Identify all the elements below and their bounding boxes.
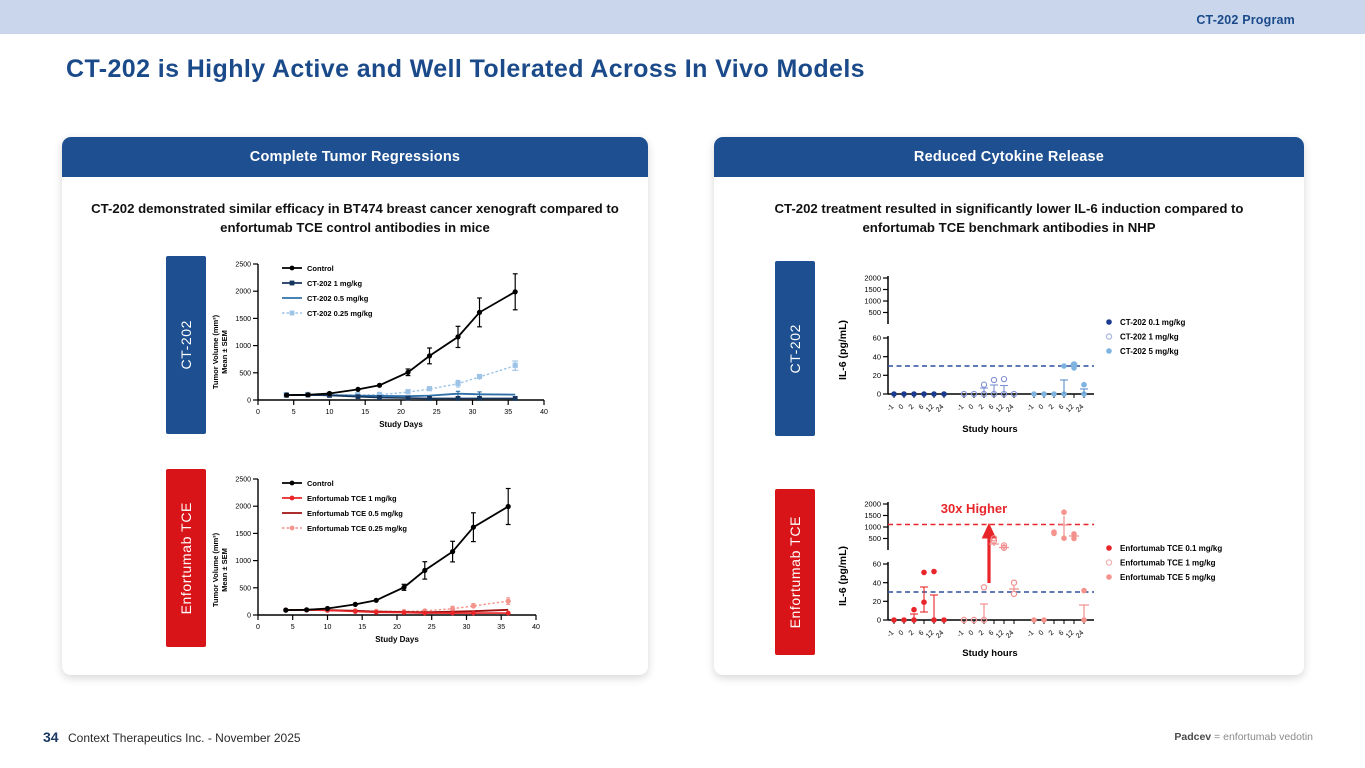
svg-text:2000: 2000: [864, 274, 881, 283]
svg-text:15: 15: [361, 409, 369, 416]
svg-text:6: 6: [918, 403, 926, 411]
svg-text:1500: 1500: [864, 285, 881, 294]
svg-text:0: 0: [877, 390, 881, 399]
svg-text:500: 500: [239, 370, 251, 377]
panel-left-subtitle: CT-202 demonstrated similar efficacy in …: [88, 199, 622, 237]
svg-text:2: 2: [1048, 403, 1056, 411]
svg-text:0: 0: [898, 629, 906, 637]
svg-text:6: 6: [1058, 403, 1066, 411]
vertical-tab-label: Enfortumab TCE: [178, 502, 194, 614]
svg-text:10: 10: [324, 624, 332, 631]
svg-text:6: 6: [988, 629, 996, 637]
chart-tumor-enfortumab: Tumor Volume (mm³) Mean ± SEM 0 500 1000…: [206, 467, 551, 652]
program-label: CT-202 Program: [1196, 13, 1295, 27]
y-axis-label-group: Tumor Volume (mm³) Mean ± SEM: [211, 532, 229, 607]
svg-text:0: 0: [256, 624, 260, 631]
vertical-tab-label: Enfortumab TCE: [787, 516, 803, 628]
svg-text:24: 24: [1075, 629, 1086, 640]
svg-text:40: 40: [873, 578, 881, 587]
footer-note-bold: Padcev: [1174, 731, 1211, 743]
svg-text:2: 2: [908, 629, 916, 637]
svg-text:10: 10: [326, 409, 334, 416]
svg-text:CT-202 0.5 mg/kg: CT-202 0.5 mg/kg: [307, 294, 369, 303]
svg-text:Enfortumab TCE 0.1 mg/kg: Enfortumab TCE 0.1 mg/kg: [1120, 544, 1222, 553]
svg-text:Study hours: Study hours: [962, 424, 1017, 435]
svg-text:-1: -1: [1026, 629, 1035, 638]
series-control: [283, 489, 511, 613]
vertical-tab-ct202-left: CT-202: [166, 256, 206, 434]
svg-text:25: 25: [433, 409, 441, 416]
footer-company: Context Therapeutics Inc. - November 202…: [68, 731, 301, 745]
svg-text:Tumor Volume (mm³): Tumor Volume (mm³): [211, 532, 220, 607]
svg-text:6: 6: [1058, 629, 1066, 637]
svg-text:24: 24: [935, 403, 946, 414]
svg-text:24: 24: [1005, 629, 1016, 640]
svg-text:20: 20: [397, 409, 405, 416]
svg-text:1000: 1000: [864, 297, 881, 306]
svg-text:0: 0: [968, 403, 976, 411]
chart-legend: Control Enfortumab TCE 1 mg/kg Enfortuma…: [282, 479, 407, 533]
svg-text:15: 15: [358, 624, 366, 631]
svg-text:CT-202 0.25 mg/kg: CT-202 0.25 mg/kg: [307, 309, 373, 318]
svg-text:IL-6 (pg/mL): IL-6 (pg/mL): [837, 546, 849, 606]
svg-text:6: 6: [988, 403, 996, 411]
svg-text:35: 35: [504, 409, 512, 416]
svg-text:1000: 1000: [235, 343, 251, 350]
annotation-arrow: [983, 524, 996, 583]
svg-text:2500: 2500: [235, 477, 251, 484]
vertical-tab-label: CT-202: [178, 320, 194, 370]
svg-text:40: 40: [540, 409, 548, 416]
chart-tumor-ct202: Tumor Volume (mm³) Mean ± SEM 0 500 1000…: [206, 252, 551, 437]
svg-text:Study Days: Study Days: [379, 420, 423, 429]
svg-text:Control: Control: [307, 264, 334, 273]
svg-text:Enfortumab TCE 1 mg/kg: Enfortumab TCE 1 mg/kg: [1120, 559, 1216, 568]
svg-text:Enfortumab TCE 0.5 mg/kg: Enfortumab TCE 0.5 mg/kg: [307, 509, 403, 518]
svg-text:20: 20: [393, 624, 401, 631]
svg-text:0: 0: [247, 398, 251, 405]
chart-il6-ct202-svg: IL-6 (pg/mL) 2000 1500 1000 500 60 40 20…: [832, 262, 1292, 442]
page-number: 34: [43, 729, 59, 745]
svg-text:40: 40: [873, 352, 881, 361]
svg-text:24: 24: [935, 629, 946, 640]
svg-text:Study hours: Study hours: [962, 648, 1017, 659]
svg-text:2000: 2000: [235, 504, 251, 511]
svg-text:24: 24: [1005, 403, 1016, 414]
svg-text:500: 500: [868, 534, 881, 543]
svg-text:60: 60: [873, 560, 881, 569]
svg-text:1500: 1500: [235, 316, 251, 323]
svg-text:0: 0: [968, 629, 976, 637]
svg-text:CT-202 5 mg/kg: CT-202 5 mg/kg: [1120, 347, 1179, 356]
panel-right-heading: Reduced Cytokine Release: [714, 137, 1304, 177]
chart-legend: CT-202 0.1 mg/kg CT-202 1 mg/kg CT-202 5…: [1106, 318, 1185, 356]
vertical-tab-enfortumab-left: Enfortumab TCE: [166, 469, 206, 647]
footer-note: Padcev = enfortumab vedotin: [1174, 731, 1313, 743]
svg-text:-1: -1: [956, 403, 965, 412]
svg-text:60: 60: [873, 334, 881, 343]
svg-text:Control: Control: [307, 479, 334, 488]
svg-text:Mean ± SEM: Mean ± SEM: [220, 330, 229, 374]
svg-text:2: 2: [978, 629, 986, 637]
vertical-tab-ct202-right: CT-202: [775, 261, 815, 436]
svg-text:0: 0: [1038, 403, 1046, 411]
svg-text:35: 35: [497, 624, 505, 631]
chart-tumor-enfortumab-svg: Tumor Volume (mm³) Mean ± SEM 0 500 1000…: [206, 467, 551, 652]
svg-text:0: 0: [1038, 629, 1046, 637]
chart-tumor-ct202-svg: Tumor Volume (mm³) Mean ± SEM 0 500 1000…: [206, 252, 551, 437]
svg-text:2: 2: [908, 403, 916, 411]
svg-text:-1: -1: [886, 403, 895, 412]
svg-text:CT-202 1 mg/kg: CT-202 1 mg/kg: [307, 279, 362, 288]
svg-text:2000: 2000: [864, 500, 881, 509]
svg-text:1500: 1500: [864, 511, 881, 520]
svg-text:-1: -1: [1026, 403, 1035, 412]
svg-text:0: 0: [877, 616, 881, 625]
series-ct202-025: [284, 361, 519, 397]
svg-text:Enfortumab TCE 5 mg/kg: Enfortumab TCE 5 mg/kg: [1120, 573, 1216, 582]
chart-legend: Control CT-202 1 mg/kg CT-202 0.5 mg/kg …: [282, 264, 373, 318]
series-control: [284, 274, 518, 398]
svg-text:IL-6 (pg/mL): IL-6 (pg/mL): [837, 320, 849, 380]
panel-left-heading: Complete Tumor Regressions: [62, 137, 648, 177]
svg-text:1500: 1500: [235, 531, 251, 538]
svg-text:500: 500: [239, 585, 251, 592]
svg-text:20: 20: [873, 597, 881, 606]
chart-legend: Enfortumab TCE 0.1 mg/kg Enfortumab TCE …: [1106, 544, 1222, 582]
vertical-tab-enfortumab-right: Enfortumab TCE: [775, 489, 815, 655]
group-enf-01: [891, 569, 947, 623]
svg-text:500: 500: [868, 308, 881, 317]
chart-il6-enfortumab: IL-6 (pg/mL) 2000 1500 1000 500 60 40 20…: [832, 488, 1292, 663]
svg-text:CT-202 1 mg/kg: CT-202 1 mg/kg: [1120, 333, 1179, 342]
svg-text:2: 2: [978, 403, 986, 411]
svg-text:-1: -1: [886, 629, 895, 638]
svg-text:2000: 2000: [235, 289, 251, 296]
y-axis-label-group: Tumor Volume (mm³) Mean ± SEM: [211, 314, 229, 389]
svg-text:Enfortumab TCE 0.25 mg/kg: Enfortumab TCE 0.25 mg/kg: [307, 524, 407, 533]
vertical-tab-label: CT-202: [787, 324, 803, 374]
footer-note-rest: = enfortumab vedotin: [1211, 731, 1313, 743]
svg-text:Study Days: Study Days: [375, 635, 419, 644]
svg-text:0: 0: [256, 409, 260, 416]
chart-il6-ct202: IL-6 (pg/mL) 2000 1500 1000 500 60 40 20…: [832, 262, 1292, 442]
svg-text:40: 40: [532, 624, 540, 631]
top-band: [0, 0, 1365, 34]
svg-text:CT-202 0.1 mg/kg: CT-202 0.1 mg/kg: [1120, 318, 1185, 327]
svg-text:30: 30: [469, 409, 477, 416]
svg-text:6: 6: [918, 629, 926, 637]
svg-text:Mean ± SEM: Mean ± SEM: [220, 548, 229, 592]
page-title: CT-202 is Highly Active and Well Tolerat…: [66, 55, 865, 84]
svg-text:5: 5: [291, 624, 295, 631]
svg-text:30: 30: [463, 624, 471, 631]
svg-text:Tumor Volume (mm³): Tumor Volume (mm³): [211, 314, 220, 389]
panel-right-subtitle: CT-202 treatment resulted in significant…: [740, 199, 1278, 237]
svg-text:2: 2: [1048, 629, 1056, 637]
svg-text:2500: 2500: [235, 262, 251, 269]
svg-text:25: 25: [428, 624, 436, 631]
chart-il6-enfortumab-svg: IL-6 (pg/mL) 2000 1500 1000 500 60 40 20…: [832, 488, 1292, 663]
svg-text:1000: 1000: [235, 558, 251, 565]
annotation-30x-higher: 30x Higher: [941, 501, 1007, 516]
group-enf-5: [1031, 509, 1089, 622]
svg-text:1000: 1000: [864, 523, 881, 532]
svg-text:20: 20: [873, 371, 881, 380]
svg-text:0: 0: [247, 613, 251, 620]
svg-text:-1: -1: [956, 629, 965, 638]
svg-text:Enfortumab TCE 1 mg/kg: Enfortumab TCE 1 mg/kg: [307, 494, 397, 503]
svg-text:24: 24: [1075, 403, 1086, 414]
svg-text:5: 5: [292, 409, 296, 416]
svg-text:0: 0: [898, 403, 906, 411]
